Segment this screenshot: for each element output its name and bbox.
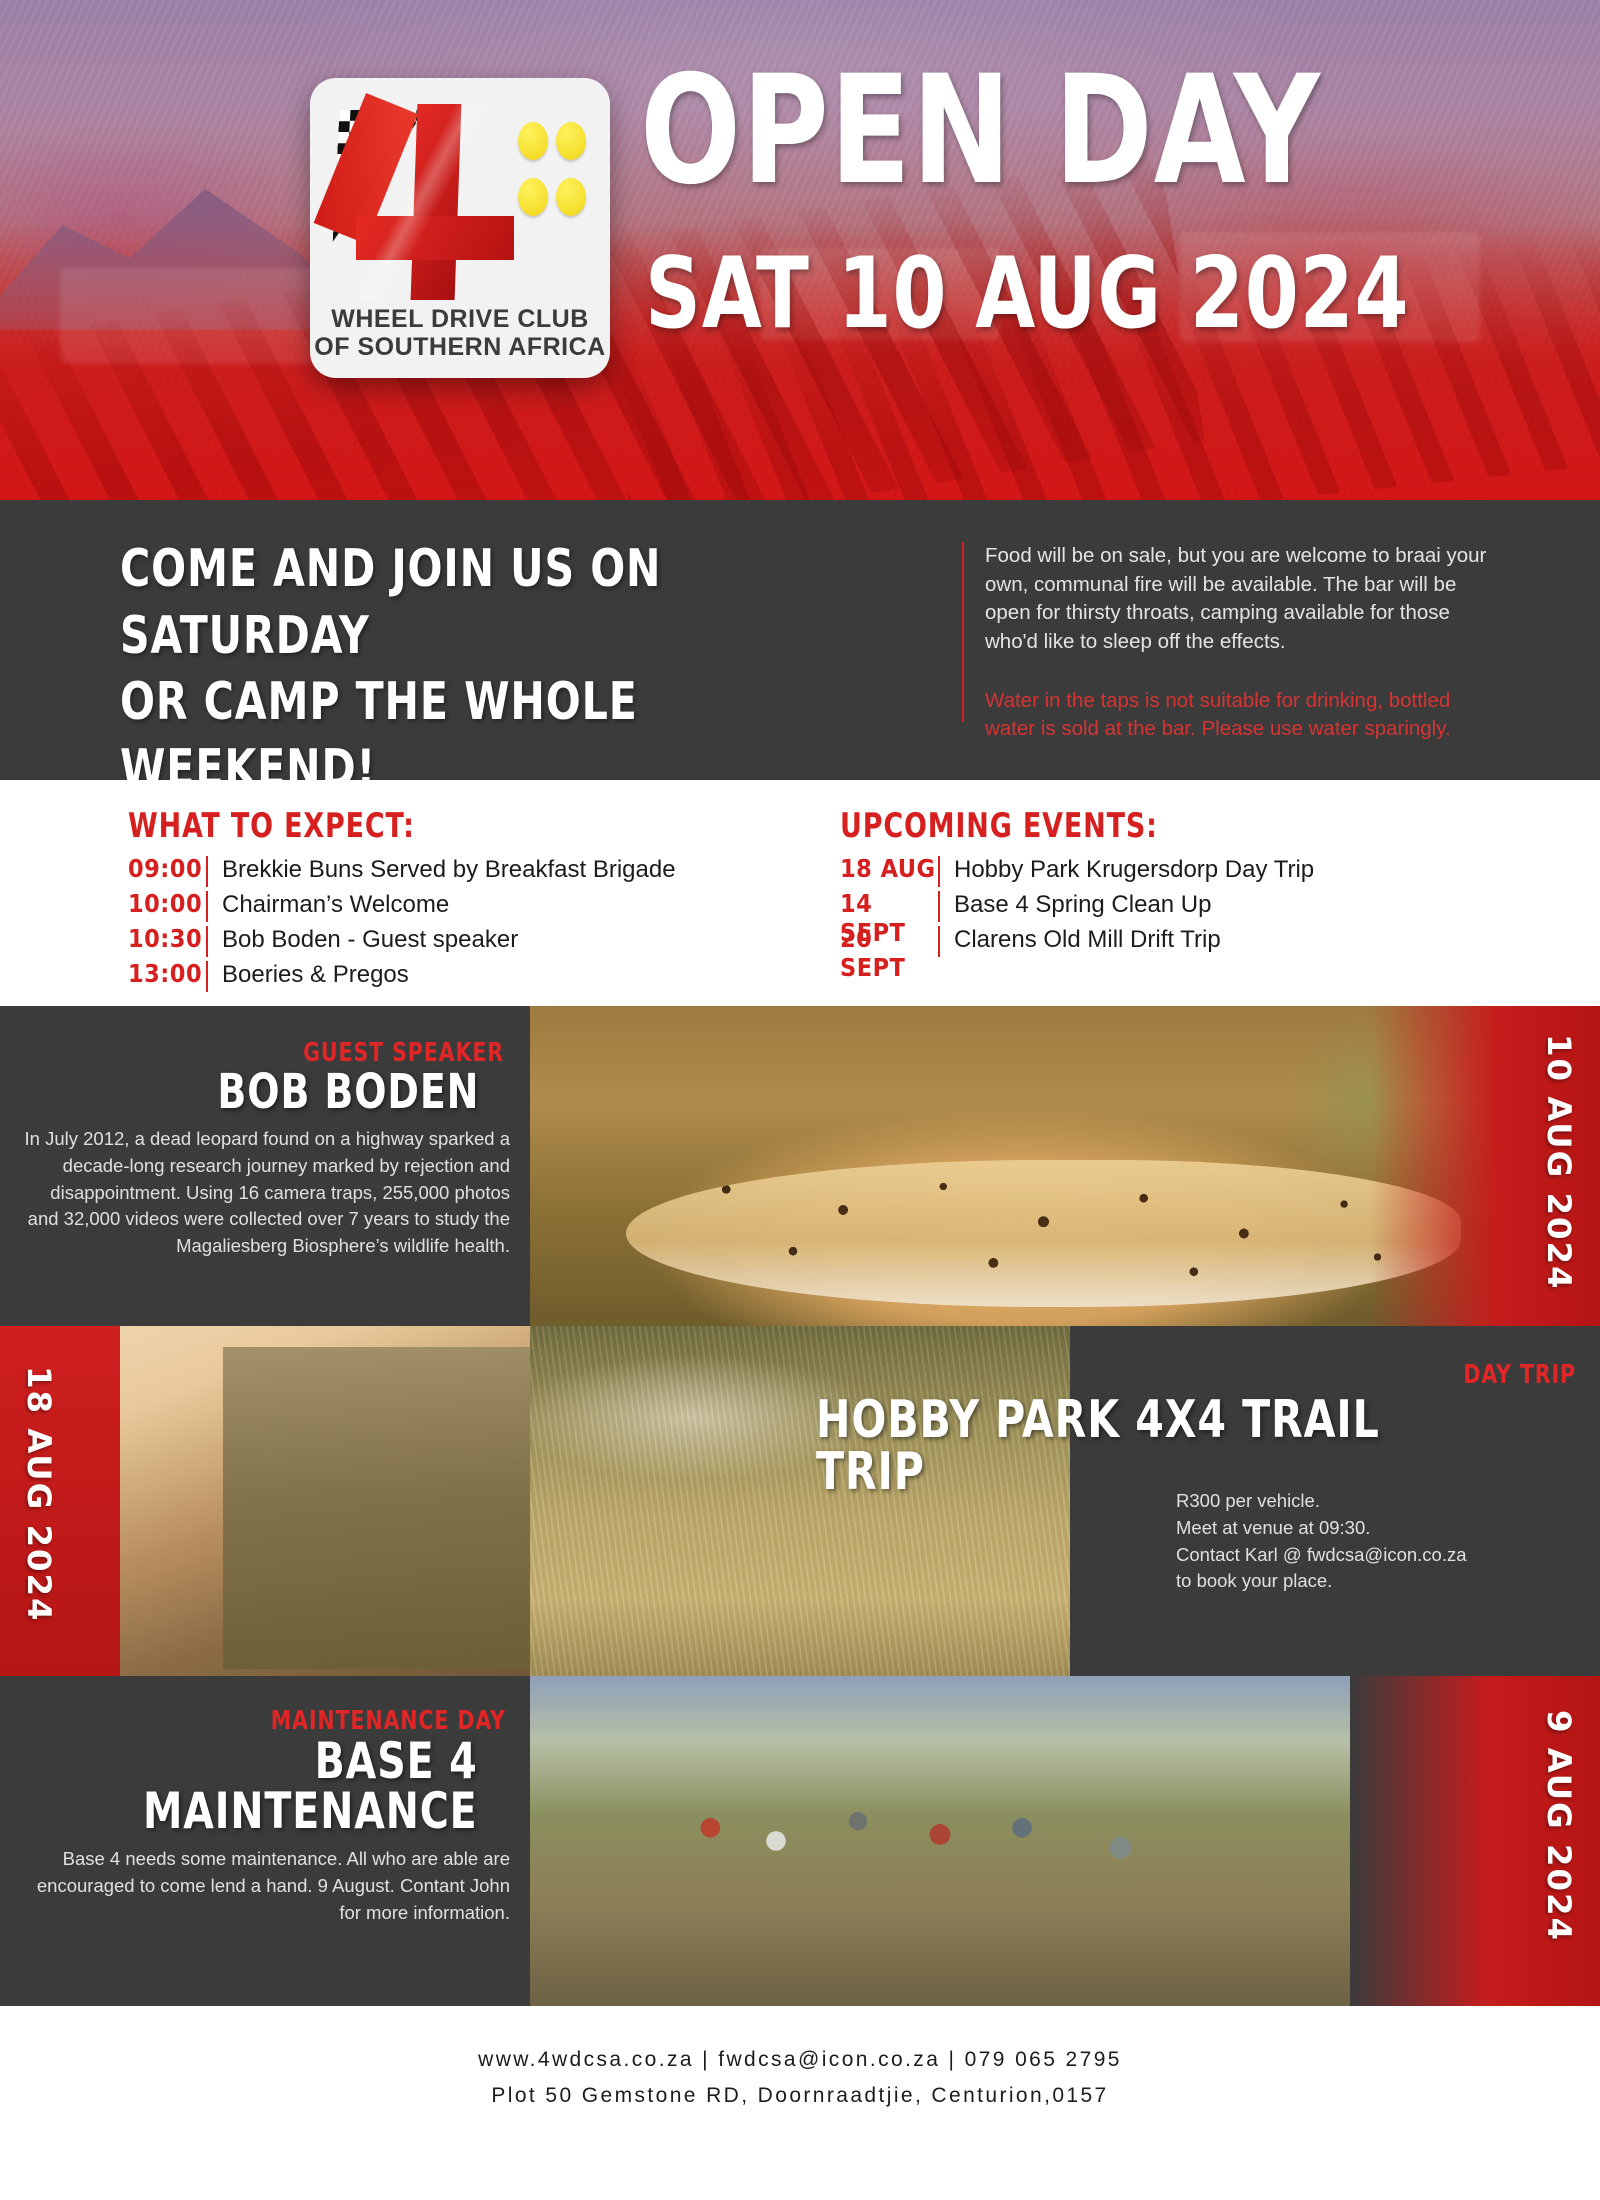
poster-root: WHEEL DRIVE CLUB OF SOUTHERN AFRICA OPEN… <box>0 0 1600 2200</box>
schedule-time: 09:00 <box>128 854 206 883</box>
upcoming-events-column: UPCOMING EVENTS: 18 AUG Hobby Park Kruge… <box>840 806 1460 959</box>
intro-banner: COME AND JOIN US ON SATURDAY OR CAMP THE… <box>0 500 1600 780</box>
footer: www.4wdcsa.co.za | fwdcsa@icon.co.za | 0… <box>0 2006 1600 2130</box>
schedule-row: 09:00 Brekkie Buns Served by Breakfast B… <box>128 854 748 889</box>
feature-vertical-date: 9 AUG 2024 <box>1542 1710 1574 1942</box>
footer-contact-line: www.4wdcsa.co.za | fwdcsa@icon.co.za | 0… <box>0 2042 1600 2078</box>
schedule-rows: 09:00 Brekkie Buns Served by Breakfast B… <box>128 854 748 994</box>
intro-banner-right: Food will be on sale, but you are welcom… <box>985 542 1505 744</box>
schedule-label: Brekkie Buns Served by Breakfast Brigade <box>222 856 676 884</box>
logo-four-graphic <box>332 100 512 300</box>
schedule-time: 13:00 <box>128 959 206 988</box>
schedule-label: Boeries & Pregos <box>222 961 409 989</box>
page-title: OPEN DAY <box>640 62 1321 200</box>
schedule-label: Bob Boden - Guest speaker <box>222 926 518 954</box>
leopard-spots <box>626 1160 1461 1307</box>
upcoming-row: 18 AUG Hobby Park Krugersdorp Day Trip <box>840 854 1460 889</box>
feature-panel-hobby-park: DAY TRIP HOBBY PARK 4X4 TRAIL TRIP R300 … <box>0 1326 1600 1676</box>
logo-text-line2: OF SOUTHERN AFRICA <box>310 334 610 362</box>
upcoming-events-heading: UPCOMING EVENTS: <box>840 806 1386 846</box>
feature-kicker: GUEST SPEAKER <box>73 1040 504 1066</box>
feature-title: BASE 4 MAINTENANCE <box>46 1736 477 1836</box>
schedule-label: Chairman’s Welcome <box>222 891 449 919</box>
logo-digit-four <box>356 104 514 300</box>
feature-title: BOB BODEN <box>48 1068 479 1116</box>
banner-heading-line1: COME AND JOIN US ON SATURDAY <box>120 536 842 669</box>
row-divider <box>938 856 940 887</box>
upcoming-label: Clarens Old Mill Drift Trip <box>954 926 1221 954</box>
upcoming-date: 20 SEPT <box>840 924 938 982</box>
feature-kicker: MAINTENANCE DAY <box>75 1708 506 1734</box>
feature-panel-bob-boden: GUEST SPEAKER BOB BODEN In July 2012, a … <box>0 1006 1600 1326</box>
logo-text: WHEEL DRIVE CLUB OF SOUTHERN AFRICA <box>310 306 610 361</box>
feature-body: Base 4 needs some maintenance. All who a… <box>20 1846 510 1926</box>
upcoming-row: 20 SEPT Clarens Old Mill Drift Trip <box>840 924 1460 959</box>
club-logo: WHEEL DRIVE CLUB OF SOUTHERN AFRICA <box>310 78 610 378</box>
upcoming-date: 18 AUG <box>840 854 938 883</box>
feature-text-block: GUEST SPEAKER BOB BODEN In July 2012, a … <box>20 1040 510 1260</box>
row-divider <box>938 926 940 957</box>
logo-text-line1: WHEEL DRIVE CLUB <box>310 306 610 334</box>
upcoming-row: 14 SEPT Base 4 Spring Clean Up <box>840 889 1460 924</box>
row-divider <box>938 891 940 922</box>
row-divider <box>206 961 208 992</box>
feature-kicker: DAY TRIP <box>907 1362 1576 1388</box>
row-divider <box>206 926 208 957</box>
feature-panel-base4-maintenance: MAINTENANCE DAY BASE 4 MAINTENANCE Base … <box>0 1676 1600 2006</box>
row-divider <box>206 891 208 922</box>
hero-section: WHEEL DRIVE CLUB OF SOUTHERN AFRICA OPEN… <box>0 0 1600 500</box>
what-to-expect-heading: WHAT TO EXPECT: <box>128 806 674 846</box>
feature-vertical-date: 10 AUG 2024 <box>1542 1034 1574 1291</box>
schedule-row: 10:00 Chairman’s Welcome <box>128 889 748 924</box>
upcoming-label: Base 4 Spring Clean Up <box>954 891 1211 919</box>
maintenance-photo <box>530 1676 1350 2006</box>
lists-section: WHAT TO EXPECT: 09:00 Brekkie Buns Serve… <box>0 780 1600 1006</box>
schedule-time: 10:00 <box>128 889 206 918</box>
feature-text-block: MAINTENANCE DAY BASE 4 MAINTENANCE Base … <box>20 1708 510 1926</box>
logo-mark <box>332 100 588 300</box>
upcoming-label: Hobby Park Krugersdorp Day Trip <box>954 856 1314 884</box>
feature-vertical-date: 18 AUG 2024 <box>22 1366 54 1623</box>
footer-address-line: Plot 50 Gemstone RD, Doornraadtjie, Cent… <box>0 2078 1600 2114</box>
banner-warning-text: Water in the taps is not suitable for dr… <box>985 687 1505 744</box>
banner-info-text: Food will be on sale, but you are welcom… <box>985 542 1505 657</box>
feature-body: In July 2012, a dead leopard found on a … <box>20 1126 510 1260</box>
logo-wheel-dots <box>518 122 588 234</box>
schedule-row: 13:00 Boeries & Pregos <box>128 959 748 994</box>
schedule-time: 10:30 <box>128 924 206 953</box>
schedule-row: 10:30 Bob Boden - Guest speaker <box>128 924 748 959</box>
hero-date: SAT 10 AUG 2024 <box>645 248 1409 341</box>
banner-divider <box>962 542 964 722</box>
row-divider <box>206 856 208 887</box>
what-to-expect-column: WHAT TO EXPECT: 09:00 Brekkie Buns Serve… <box>128 806 748 994</box>
upcoming-rows: 18 AUG Hobby Park Krugersdorp Day Trip 1… <box>840 854 1460 959</box>
feature-title: HOBBY PARK 4X4 TRAIL TRIP <box>816 1394 1485 1498</box>
feature-text-block: DAY TRIP HOBBY PARK 4X4 TRAIL TRIP <box>816 1362 1576 1498</box>
feature-body: R300 per vehicle. Meet at venue at 09:30… <box>1176 1488 1576 1595</box>
feature-date-band <box>0 1326 120 1676</box>
